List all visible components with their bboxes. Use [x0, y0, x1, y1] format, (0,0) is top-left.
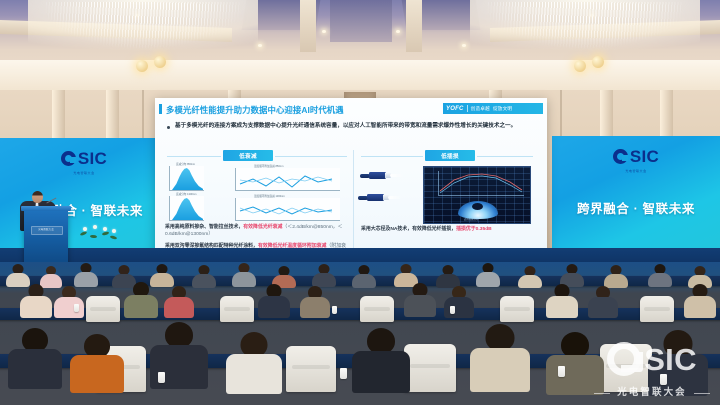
corner-logo-divider [467, 105, 468, 112]
audience-person [192, 265, 216, 287]
head-rule-left [167, 156, 221, 157]
person-body [192, 274, 216, 288]
audience-person [476, 263, 500, 286]
audience-person [54, 286, 84, 317]
corner-logo-mark: YOFC [446, 106, 464, 112]
banner-right-tagline: 跨界融合 · 智联未来 [552, 198, 720, 217]
audience-person [404, 283, 436, 316]
chandelier-drop [592, 56, 604, 68]
banner-left-logo-sub: 光电智联大会 [0, 171, 168, 175]
audience-person [70, 334, 124, 390]
note-left-1: 采用高纯原料掺杂、智能拉丝技术，有效降低光纤衰减（＜2.4dB/km@850nm… [165, 224, 347, 239]
downlight-icon [322, 30, 326, 33]
panel-header-low-attenuation: 低衰减 [223, 150, 273, 161]
audience-person [164, 286, 194, 317]
person-body [684, 296, 716, 318]
bullet-dot-icon [167, 126, 170, 129]
audience-person [588, 286, 618, 317]
audience-person [124, 282, 158, 316]
chair [286, 346, 336, 392]
watermark-logo: SIC [588, 337, 716, 381]
person-body [470, 348, 530, 392]
presentation-slide: 多模光纤性能提升助力数据中心迎接AI时代机遇 YOFC 创造卓越 绽放文明 基于… [155, 98, 547, 268]
audience-person [352, 265, 376, 287]
audience-person [560, 264, 584, 286]
banner-right-logo-sub: 光电智联大会 [552, 169, 720, 173]
connector-body [369, 172, 386, 179]
csic-circle-icon [607, 342, 641, 376]
person-body [232, 272, 256, 287]
chair [360, 296, 394, 322]
title-accent-bar [159, 104, 162, 114]
light-beam-icon [388, 196, 402, 199]
audience-person [436, 265, 460, 287]
audience-person [444, 286, 474, 317]
downlight-icon [462, 44, 466, 47]
paper-cup [558, 366, 565, 377]
ceiling [0, 0, 720, 96]
audience-person [352, 328, 410, 388]
person-body [164, 297, 194, 318]
person-body [352, 351, 410, 393]
slide-bullet-row: 基于多模光纤的连接方案成为支撑数据中心提升光纤通信系统容量，以应对人工智能所带来… [167, 122, 535, 131]
histogram-bars [172, 168, 203, 190]
chart-caption: 衰减分布 1300nm [176, 192, 196, 196]
banner-left-logo-text: SIC [78, 150, 107, 167]
banner-right-logo: SIC 光电智联大会 [552, 148, 720, 173]
audience-person [470, 324, 530, 388]
downlight-icon [396, 30, 400, 33]
stage-flowers [78, 225, 118, 241]
podium-label: 光电智联大会 [24, 227, 68, 231]
slide-bullet-text: 基于多模光纤的连接方案成为支撑数据中心提升光纤通信系统容量，以应对人工智能所带来… [175, 122, 516, 131]
leaf [90, 234, 97, 238]
audience-person [258, 284, 290, 316]
person-body [20, 296, 52, 318]
person-body [648, 273, 672, 287]
conference-photo: SIC 光电智联大会 跨界融合 · 智联未来 SIC 光电智联大会 跨界融合 ·… [0, 0, 720, 405]
chart-caption: 温度循环附加衰减 850nm [254, 164, 283, 168]
person-body [312, 273, 336, 287]
watermark-caption: 光电智联大会 [588, 384, 716, 398]
flower [103, 227, 107, 231]
person-body [518, 275, 542, 288]
chandelier-left [28, 0, 258, 78]
person-head [486, 324, 515, 351]
light-beam-icon [390, 174, 404, 177]
corner-logo-word-2: 绽放文明 [493, 106, 512, 112]
head-rule-right2 [477, 156, 533, 157]
csic-circle-icon [613, 149, 628, 164]
banner-right: SIC 光电智联大会 跨界融合 · 智联未来 [552, 136, 720, 252]
person-body [70, 355, 124, 393]
chair [500, 296, 534, 322]
audience-person [518, 266, 542, 287]
person-body [352, 274, 376, 288]
flower [93, 225, 97, 229]
slide-title: 多模光纤性能提升助力数据中心迎接AI时代机遇 [166, 104, 344, 116]
person-body [8, 349, 62, 389]
chart-caption: 衰减分布 850nm [176, 162, 195, 166]
person-body [300, 297, 330, 318]
person-body [74, 272, 98, 287]
csic-circle-icon [61, 151, 76, 166]
person-body [404, 295, 436, 317]
paper-cup [332, 306, 337, 314]
note-right-1: 采用大芯径及NA技术，有效降低光纤插损，插损优于0.35dB [361, 226, 539, 233]
chandelier-drop [154, 56, 166, 68]
audience-person [6, 264, 30, 286]
audience-person [604, 265, 628, 287]
flower [112, 229, 116, 233]
chandelier-right [470, 0, 700, 78]
chart-line-850: 温度循环附加衰减 850nm [235, 168, 340, 191]
panel-header-low-insertion-loss: 低插损 [425, 150, 475, 161]
person-body [124, 295, 158, 318]
person-body [258, 296, 290, 318]
person-body [444, 297, 474, 318]
ceiling-beam [300, 0, 316, 52]
paper-cup [158, 372, 165, 383]
chart-histogram-1300: 衰减分布 1300nm [169, 196, 204, 221]
note-left-1-highlight: 有效降低光纤衰减 [243, 225, 282, 230]
watermark: SIC 光电智联大会 [588, 335, 716, 401]
chart-histogram-850: 衰减分布 850nm [169, 166, 204, 191]
chandelier-drop [574, 60, 586, 72]
paper-cup [74, 304, 79, 312]
audience-person [226, 332, 282, 390]
line-chart-svg [236, 198, 340, 220]
chair [86, 296, 120, 322]
downlight-icon [258, 44, 262, 47]
audience-person [546, 284, 578, 316]
watermark-logo-text: SIC [644, 344, 697, 375]
chandelier-drop [136, 60, 148, 72]
screen-trace [424, 167, 530, 197]
speaker-head [32, 191, 43, 203]
paper-cup [450, 306, 455, 314]
audience-person [8, 328, 62, 386]
histogram-bars [172, 198, 203, 220]
spot-core [472, 203, 483, 210]
note-right-1-highlight: 插损优于0.35dB [456, 227, 492, 232]
corner-logo-word-1: 创造卓越 [471, 106, 490, 112]
person-body [54, 297, 84, 318]
banner-right-logo-text: SIC [630, 148, 659, 165]
audience-person [300, 286, 330, 317]
podium-top [21, 206, 71, 211]
head-rule-left2 [275, 156, 347, 157]
audience-person [312, 264, 336, 286]
line-chart-svg [236, 168, 340, 190]
near-field-measurement-screen: 近场光斑分布 [423, 166, 531, 224]
leaf [110, 235, 118, 240]
chart-line-1300: 温度循环附加衰减 1300nm [235, 198, 340, 221]
banner-left-logo: SIC 光电智联大会 [0, 150, 168, 175]
ceiling-beam [406, 0, 422, 52]
flower [83, 227, 87, 231]
screen-caption: 近场光斑分布 [464, 217, 478, 221]
chair [220, 296, 254, 322]
person-body [226, 354, 282, 394]
note-right-1-main: 采用大芯径及NA技术，有效降低光纤插损， [361, 227, 456, 232]
slide-corner-logo: YOFC 创造卓越 绽放文明 [443, 103, 543, 114]
connector-body [367, 194, 384, 201]
chart-caption: 温度循环附加衰减 1300nm [254, 194, 285, 198]
person-body [588, 297, 618, 318]
note-left-1-main: 采用高纯原料掺杂、智能拉丝技术， [165, 225, 243, 230]
person-body [476, 272, 500, 287]
audience-person [648, 264, 672, 286]
head-rule-right [361, 156, 423, 157]
chair [404, 344, 456, 392]
audience-person [20, 284, 52, 316]
chair [640, 296, 674, 322]
person-body [546, 296, 578, 318]
leaf [102, 231, 109, 235]
audience-person [74, 263, 98, 286]
ceiling-panel [330, 0, 392, 42]
paper-cup [340, 368, 347, 379]
audience-person [684, 284, 716, 316]
leaf [80, 231, 88, 236]
audience-person [232, 263, 256, 286]
